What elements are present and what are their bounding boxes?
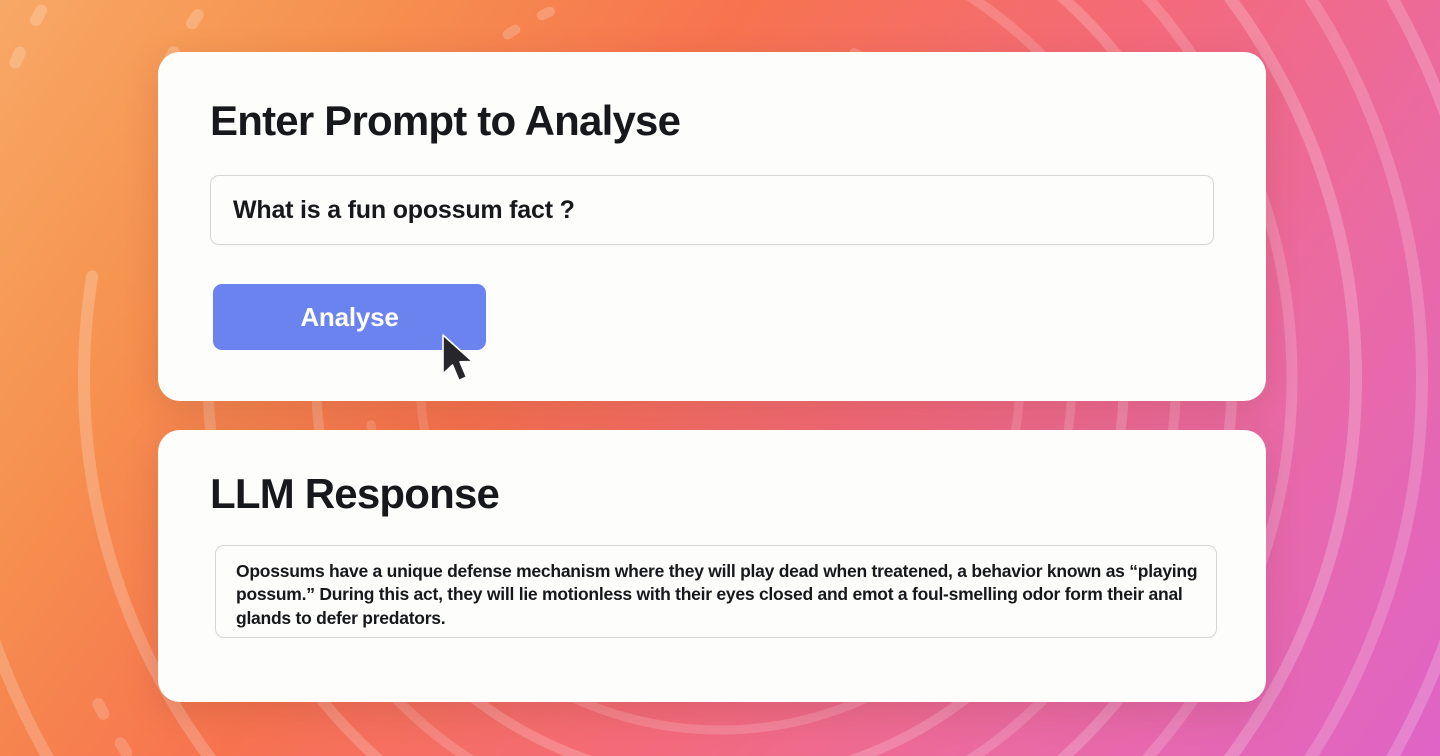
response-section-title: LLM Response — [210, 470, 499, 518]
llm-response-text: Opossums have a unique defense mechanism… — [236, 560, 1198, 630]
prompt-card: Enter Prompt to Analyse Analyse — [158, 52, 1266, 401]
page-title: Enter Prompt to Analyse — [210, 97, 680, 145]
llm-response-card: LLM Response Opossums have a unique defe… — [158, 430, 1266, 702]
prompt-input[interactable] — [233, 196, 1191, 225]
prompt-input-container[interactable] — [210, 175, 1214, 245]
llm-response-box: Opossums have a unique defense mechanism… — [215, 545, 1217, 638]
analyse-button[interactable]: Analyse — [213, 284, 486, 350]
app-background: Enter Prompt to Analyse Analyse LLM Resp… — [0, 0, 1440, 756]
